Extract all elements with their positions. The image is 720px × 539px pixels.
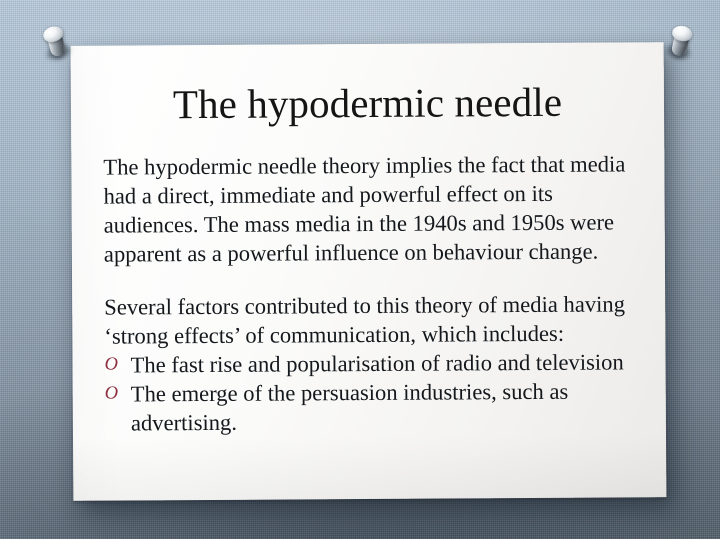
list-item-label: The emerge of the persuasion industries,… <box>131 379 569 436</box>
slide-content: The hypodermic needle The hypodermic nee… <box>71 42 667 501</box>
paragraph-intro: The hypodermic needle theory implies the… <box>103 149 639 268</box>
circle-bullet-icon: O <box>105 380 119 409</box>
circle-bullet-icon: O <box>104 351 118 380</box>
slide-image: The hypodermic needle The hypodermic nee… <box>0 0 720 539</box>
page-title: The hypodermic needle <box>71 42 664 126</box>
bullet-list: O The fast rise and popularisation of ra… <box>104 347 640 437</box>
paragraph-factors-lead-in: Several factors contributed to this theo… <box>104 289 639 350</box>
list-item-label: The fast rise and popularisation of radi… <box>130 349 623 377</box>
paper-sheet: The hypodermic needle The hypodermic nee… <box>71 42 667 501</box>
paper-surface: The hypodermic needle The hypodermic nee… <box>71 42 667 501</box>
list-item: O The emerge of the persuasion industrie… <box>105 376 640 437</box>
list-item: O The fast rise and popularisation of ra… <box>104 347 639 379</box>
slide-body: The hypodermic needle theory implies the… <box>71 149 666 438</box>
